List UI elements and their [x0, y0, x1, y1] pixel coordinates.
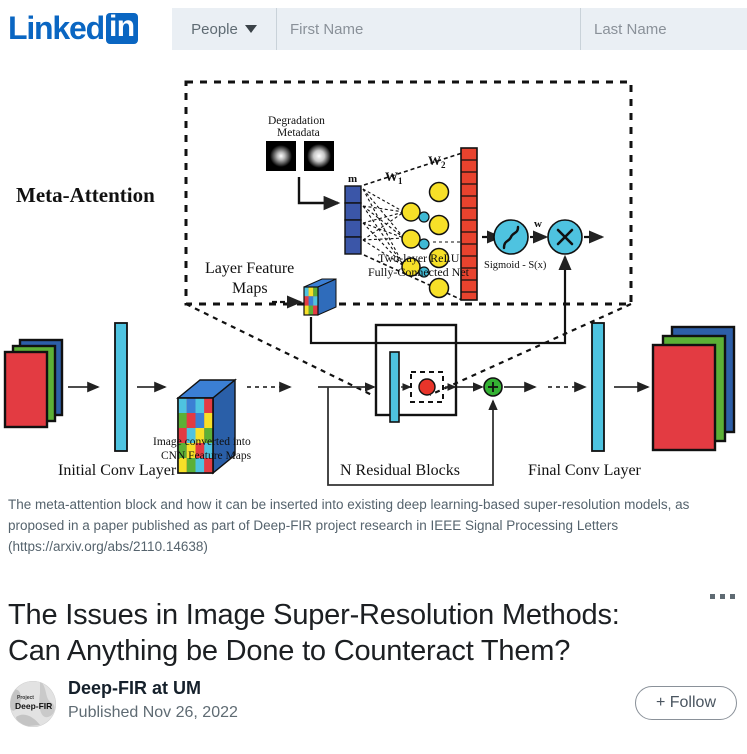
caption-line-2: proposed in a paper published as part of…: [8, 515, 728, 536]
psf-blob-2: [307, 144, 331, 168]
output-image-stack: [653, 327, 734, 450]
post-figure-image[interactable]: Meta-Attention Degradation Metadata m W1…: [0, 55, 747, 487]
final-conv-label: Final Conv Layer: [528, 462, 642, 479]
residual-sum-node: [484, 378, 502, 396]
feature-maps-caption-line2: CNN Feature Maps: [161, 450, 252, 462]
metadata-to-vector-arrow: [299, 177, 338, 203]
follow-button[interactable]: + Follow: [635, 686, 737, 720]
menu-dot-3: [730, 594, 735, 599]
overflow-menu-icon[interactable]: [710, 594, 735, 599]
linkedin-header: Linked in People First Name Last Name: [0, 0, 747, 55]
multiply-node: [548, 220, 582, 254]
caption-line-1: The meta-attention block and how it can …: [8, 494, 728, 515]
sigmoid-label: Sigmoid - S(x): [484, 260, 547, 271]
figure-caption: The meta-attention block and how it can …: [8, 494, 728, 557]
author-name[interactable]: Deep-FIR at UM: [68, 678, 201, 699]
psf-blob-1: [270, 145, 292, 167]
input-image-stack: [5, 340, 62, 427]
final-conv-bar: [592, 323, 604, 451]
avatar[interactable]: Project Deep-FIR: [10, 681, 56, 727]
w2-label: W2: [428, 153, 446, 170]
menu-dot-1: [710, 594, 715, 599]
initial-conv-bar: [115, 323, 127, 451]
vector-m-label: m: [348, 173, 357, 185]
search-bar[interactable]: People First Name Last Name: [172, 8, 747, 50]
page-title: The Issues in Image Super-Resolution Met…: [8, 597, 698, 669]
post-title-line-1: The Issues in Image Super-Resolution Met…: [8, 599, 620, 631]
meta-attention-architecture-diagram: Meta-Attention Degradation Metadata m W1…: [0, 55, 747, 487]
layer-feature-label-line1: Layer Feature: [205, 260, 294, 277]
residual-blocks-label: N Residual Blocks: [340, 462, 460, 479]
residual-conv-bar: [390, 352, 399, 422]
search-category-label: People: [191, 21, 238, 38]
published-date: Published Nov 26, 2022: [68, 704, 238, 722]
fcnet-label-line1: Two-layer ReLU: [378, 251, 460, 265]
sigmoid-node: [494, 220, 528, 254]
attention-node: [419, 379, 435, 395]
chevron-down-icon: [245, 25, 257, 33]
last-name-placeholder: Last Name: [594, 21, 667, 38]
layer-feature-map-cube: [304, 279, 336, 315]
metadata-vector: [345, 186, 361, 254]
meta-attention-title: Meta-Attention: [16, 183, 155, 207]
w-weight-label: w: [534, 218, 542, 230]
fcnet-label-line2: Fully-Connected Net: [368, 265, 470, 279]
search-category-dropdown[interactable]: People: [172, 8, 277, 50]
post-title-line-2: Can Anything be Done to Counteract Them?: [8, 635, 570, 667]
logo-in-badge: in: [106, 13, 138, 44]
last-name-input[interactable]: Last Name: [581, 8, 747, 50]
layer-feature-label-line2: Maps: [232, 280, 268, 297]
avatar-text-name: Deep-FIR: [15, 701, 52, 711]
degradation-label-line2: Metadata: [277, 127, 320, 139]
hidden-layer-2: [430, 183, 449, 298]
post-author-row: Project Deep-FIR Deep-FIR at UM Publishe…: [0, 678, 747, 754]
feature-maps-caption-line1: Image converted into: [153, 436, 251, 448]
linkedin-logo[interactable]: Linked in: [8, 10, 138, 47]
menu-dot-2: [720, 594, 725, 599]
first-name-input[interactable]: First Name: [277, 8, 581, 50]
first-name-placeholder: First Name: [290, 21, 363, 38]
caption-line-3: (https://arxiv.org/abs/2110.14638): [8, 536, 728, 557]
residual-block-box: [376, 325, 456, 415]
logo-wordmark: Linked: [8, 10, 104, 47]
degradation-label-line1: Degradation: [268, 115, 325, 127]
initial-conv-label: Initial Conv Layer: [58, 462, 177, 479]
